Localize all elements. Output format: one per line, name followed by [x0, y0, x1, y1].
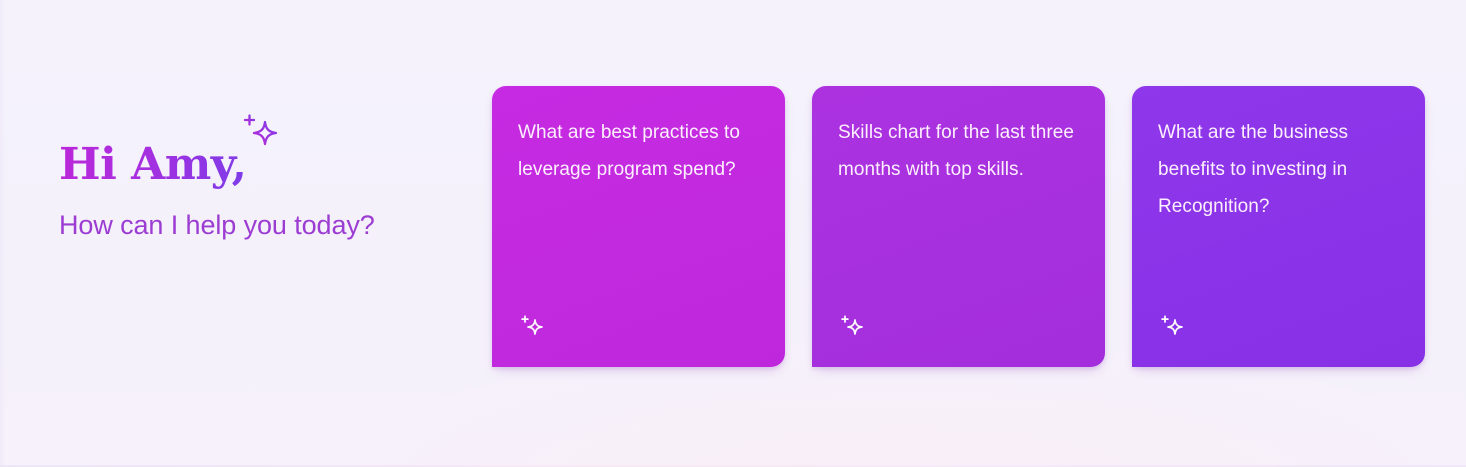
sparkle-icon [1158, 313, 1186, 341]
sparkle-icon [518, 313, 546, 341]
prompt-card[interactable]: Skills chart for the last three months w… [812, 86, 1105, 367]
prompt-card-text: What are the business benefits to invest… [1158, 114, 1399, 225]
greeting-title-row: Hi Amy, [59, 138, 246, 192]
assistant-home-screen: Hi Amy, How can I help you today? What [0, 0, 1466, 467]
prompt-card-text: Skills chart for the last three months w… [838, 114, 1079, 188]
sparkle-icon [838, 313, 866, 341]
prompt-card[interactable]: What are best practices to leverage prog… [492, 86, 785, 367]
prompt-card-list: What are best practices to leverage prog… [492, 86, 1425, 367]
prompt-card[interactable]: What are the business benefits to invest… [1132, 86, 1425, 367]
page-title: Hi Amy, [59, 138, 246, 192]
greeting-block: Hi Amy, How can I help you today? [59, 138, 459, 242]
sparkle-icon [237, 110, 283, 156]
greeting-subtitle: How can I help you today? [59, 208, 459, 242]
prompt-card-text: What are best practices to leverage prog… [518, 114, 759, 188]
